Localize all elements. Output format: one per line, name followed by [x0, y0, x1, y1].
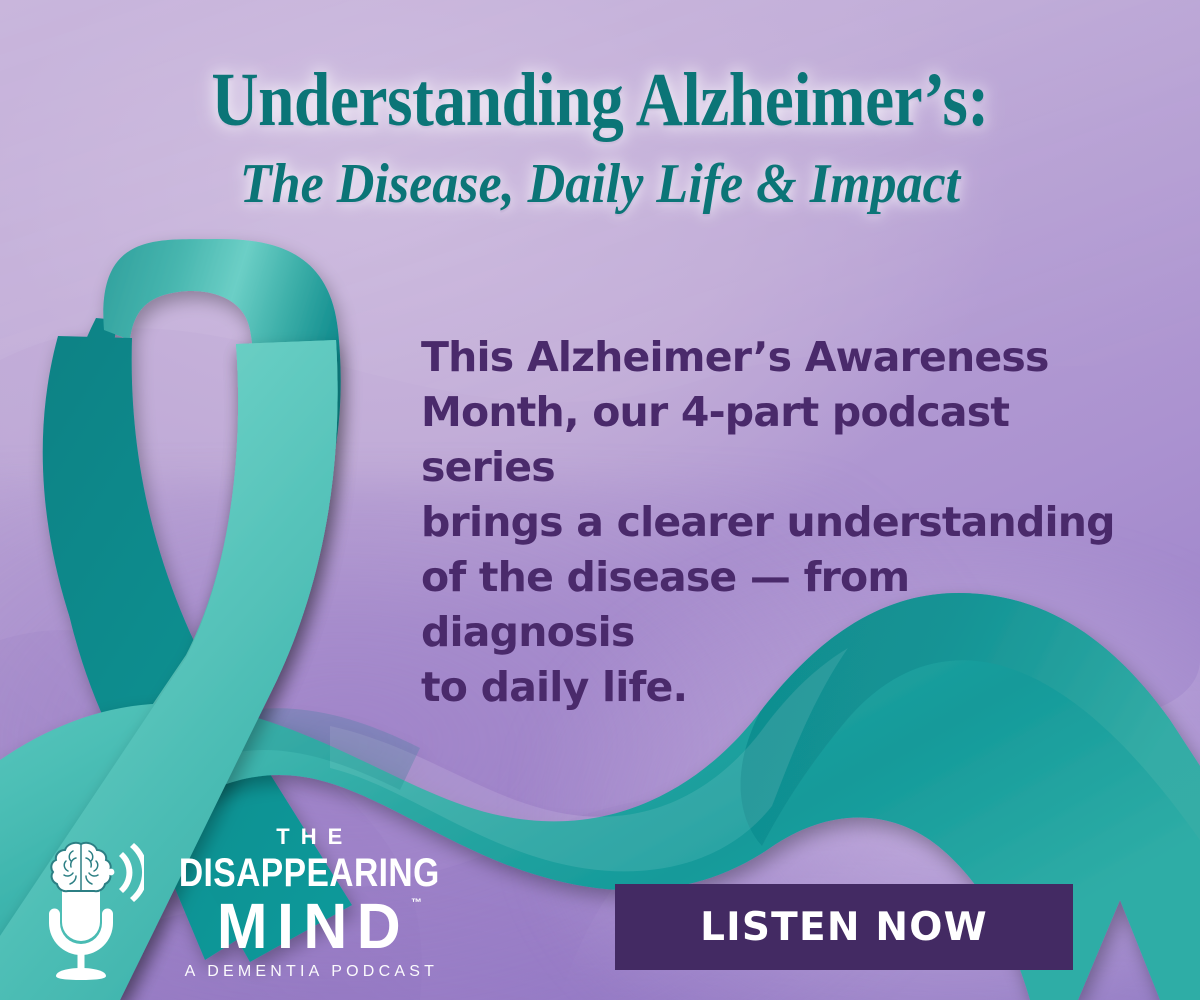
headline-block: Understanding Alzheimer’s: The Disease, … — [0, 62, 1200, 212]
page-subtitle: The Disease, Daily Life & Impact — [42, 156, 1158, 212]
body-copy-line: Month, our 4-part podcast series — [421, 385, 1121, 495]
brain-microphone-icon — [36, 834, 144, 984]
body-copy: This Alzheimer’s Awareness Month, our 4-… — [421, 330, 1121, 715]
logo-mind-wrap: MIND ™ — [202, 893, 416, 958]
logo-tagline: A DEMENTIA PODCAST — [180, 964, 438, 980]
body-copy-line: of the disease — from diagnosis — [421, 550, 1121, 660]
body-copy-line: to daily life. — [421, 660, 1121, 715]
logo-disappearing-text: DISAPPEARING — [179, 853, 440, 893]
body-copy-line: This Alzheimer’s Awareness — [421, 330, 1121, 385]
logo-the-text: THE — [265, 826, 353, 848]
sound-wave-icon — [108, 843, 144, 902]
podcast-logo[interactable]: THE DISAPPEARING MIND ™ A DEMENTIA PODCA… — [36, 826, 465, 986]
listen-now-button[interactable]: LISTEN NOW — [615, 884, 1073, 970]
trademark-symbol: ™ — [411, 897, 422, 909]
logo-mind-text: MIND — [208, 894, 411, 958]
logo-wordmark: THE DISAPPEARING MIND ™ A DEMENTIA PODCA… — [154, 826, 465, 986]
page-title: Understanding Alzheimer’s: — [84, 62, 1116, 138]
listen-now-label: LISTEN NOW — [700, 908, 988, 947]
body-copy-line: brings a clearer understanding — [421, 495, 1121, 550]
promo-banner: Understanding Alzheimer’s: The Disease, … — [0, 0, 1200, 1000]
